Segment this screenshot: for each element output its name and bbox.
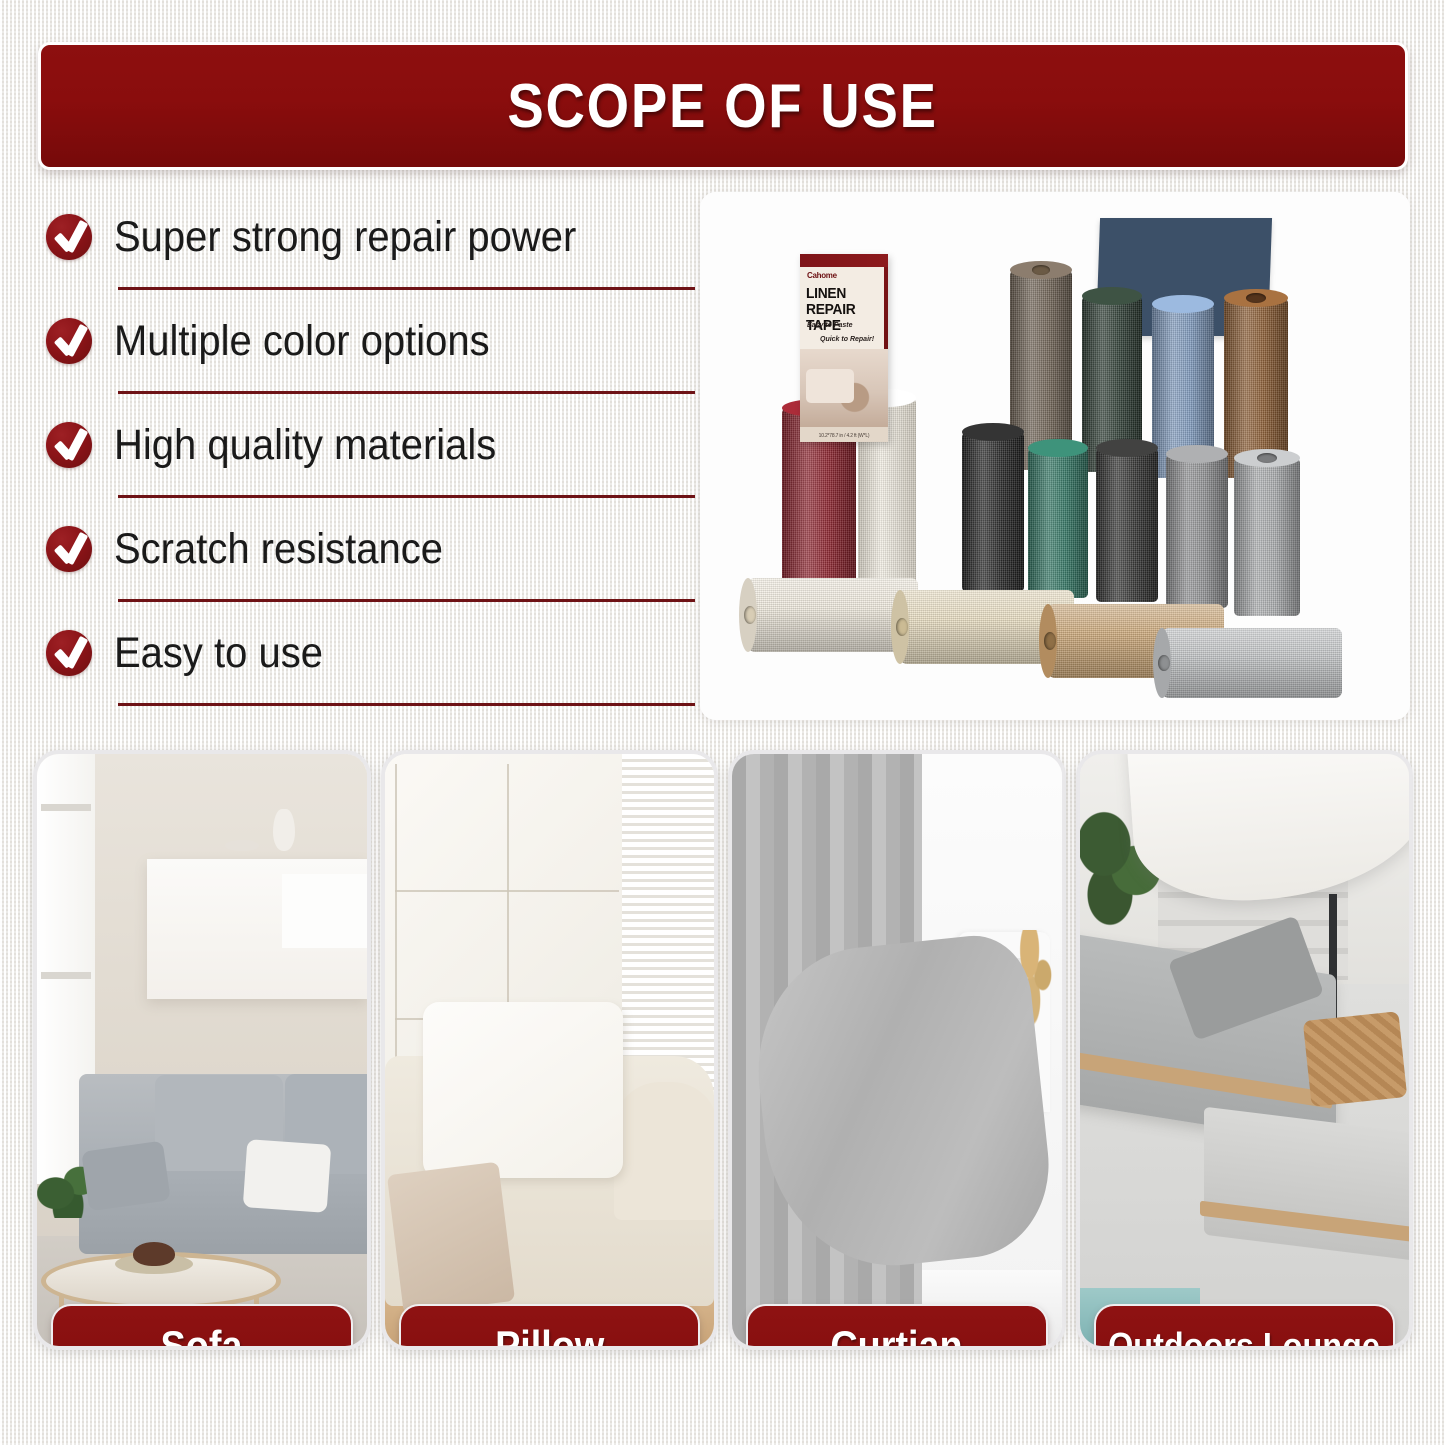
product-box: Cahome LINENREPAIR TAPE Easy to Paste Qu… xyxy=(800,254,888,442)
tape-roll-gray-light xyxy=(1234,458,1300,616)
card-label-outdoors-lounge: Outdoors Lounge xyxy=(1094,1304,1396,1350)
feature-label: Scratch resistance xyxy=(114,525,443,574)
box-tagline-1: Easy to Paste xyxy=(807,322,853,329)
feature-separator xyxy=(118,703,695,706)
feature-separator xyxy=(118,391,695,394)
use-case-card-pillow[interactable]: Pillow xyxy=(381,750,719,1350)
box-size-text: 10.2*78.7 in / 4.2 ft (W*L) xyxy=(800,433,888,439)
tape-roll-charcoal xyxy=(1096,448,1158,602)
check-circle-icon xyxy=(46,214,92,260)
card-label-curtain: Curtian xyxy=(746,1304,1048,1350)
card-label-text: Curtian xyxy=(831,1322,963,1350)
sofa-scene-photo xyxy=(37,754,367,1346)
header-banner: SCOPE OF USE xyxy=(38,42,1408,170)
tape-roll-gray-dark xyxy=(1166,454,1228,608)
curtain-scene-photo xyxy=(732,754,1062,1346)
product-image-panel: Cahome LINENREPAIR TAPE Easy to Paste Qu… xyxy=(700,192,1410,720)
feature-separator xyxy=(118,599,695,602)
feature-label: Multiple color options xyxy=(114,317,490,366)
check-circle-icon xyxy=(46,318,92,364)
feature-list: Super strong repair power Multiple color… xyxy=(40,196,695,716)
use-case-cards: Sofa Pillow xyxy=(33,750,1413,1410)
card-label-pillow: Pillow xyxy=(399,1304,701,1350)
scope-of-use-infographic: SCOPE OF USE Super strong repair power M… xyxy=(0,0,1445,1445)
check-circle-icon xyxy=(46,422,92,468)
feature-item: Easy to use xyxy=(40,612,695,716)
feature-item: Multiple color options xyxy=(40,300,695,404)
box-tagline-2: Quick to Repair! xyxy=(820,336,874,343)
feature-separator xyxy=(118,287,695,290)
card-label-text: Pillow xyxy=(495,1322,604,1350)
use-case-card-outdoors-lounge[interactable]: Outdoors Lounge xyxy=(1076,750,1414,1350)
tape-roll-teal xyxy=(1028,448,1088,598)
card-label-text: Sofa xyxy=(161,1322,243,1350)
card-label-text: Outdoors Lounge xyxy=(1108,1325,1380,1350)
use-case-card-sofa[interactable]: Sofa xyxy=(33,750,371,1350)
tape-roll-black xyxy=(962,432,1024,592)
feature-label: Super strong repair power xyxy=(114,213,576,262)
tape-roll-silver-lying xyxy=(1162,628,1342,698)
feature-item: Super strong repair power xyxy=(40,196,695,300)
use-case-card-curtain[interactable]: Curtian xyxy=(728,750,1066,1350)
feature-separator xyxy=(118,495,695,498)
check-circle-icon xyxy=(46,630,92,676)
outdoors-lounge-scene-photo xyxy=(1080,754,1410,1346)
feature-label: Easy to use xyxy=(114,629,323,678)
feature-label: High quality materials xyxy=(114,421,496,470)
box-footer: 10.2*78.7 in / 4.2 ft (W*L) xyxy=(800,427,888,442)
box-scene-photo xyxy=(800,349,888,427)
check-circle-icon xyxy=(46,526,92,572)
brand-logo: Cahome xyxy=(807,271,837,280)
card-label-sofa: Sofa xyxy=(51,1304,353,1350)
product-photo: Cahome LINENREPAIR TAPE Easy to Paste Qu… xyxy=(700,192,1410,720)
feature-item: Scratch resistance xyxy=(40,508,695,612)
feature-item: High quality materials xyxy=(40,404,695,508)
box-top-stripe xyxy=(800,254,888,267)
pillow-scene-photo xyxy=(385,754,715,1346)
page-title: SCOPE OF USE xyxy=(508,71,938,142)
